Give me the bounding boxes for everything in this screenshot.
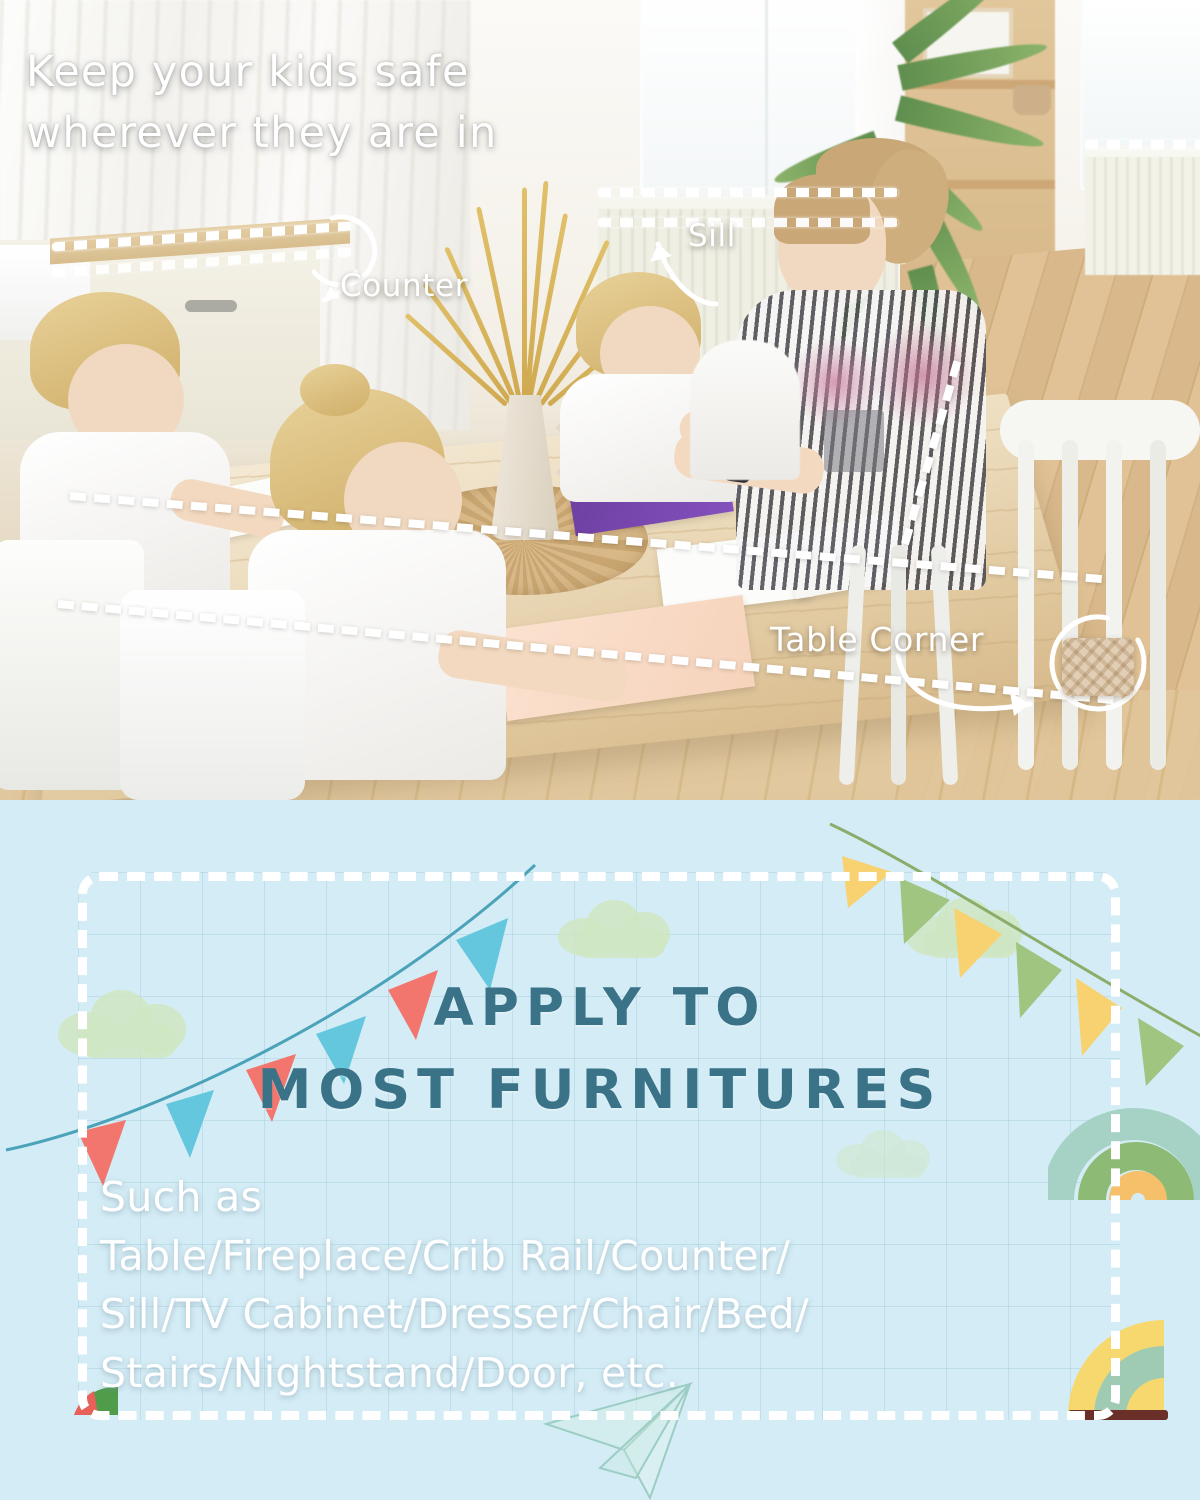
callout-label-sill: Sill	[688, 218, 736, 254]
chair-back-right	[690, 340, 800, 480]
apply-title-line-1: APPLY TO	[0, 978, 1200, 1038]
apply-to-furniture-panel: APPLY TO MOST FURNITURES Such as Table/F…	[0, 800, 1200, 1500]
chair-right	[1000, 400, 1200, 800]
furniture-list-line: Such as	[100, 1168, 1100, 1227]
table-corner-callout-arrow	[890, 648, 1080, 738]
furniture-list-line: Sill/TV Cabinet/Dresser/Chair/Bed/	[100, 1285, 1100, 1344]
furniture-list: Such as Table/Fireplace/Crib Rail/Counte…	[100, 1168, 1100, 1403]
lifestyle-photo-panel: Keep your kids safe wherever they are in…	[0, 0, 1200, 800]
sill-far-guard-overlay	[1085, 140, 1200, 149]
page-headline: Keep your kids safe wherever they are in	[26, 42, 686, 164]
callout-label-table-corner: Table Corner	[770, 620, 984, 659]
sill-edge-guard-overlay-top	[598, 188, 898, 197]
furniture-list-line: Table/Fireplace/Crib Rail/Counter/	[100, 1227, 1100, 1286]
product-infographic: Keep your kids safe wherever they are in…	[0, 0, 1200, 1500]
apply-title-line-2: MOST FURNITURES	[0, 1058, 1200, 1121]
callout-label-counter: Counter	[340, 268, 468, 304]
furniture-list-line: Stairs/Nightstand/Door, etc.	[100, 1344, 1100, 1403]
radiator-far-right	[1085, 145, 1200, 275]
